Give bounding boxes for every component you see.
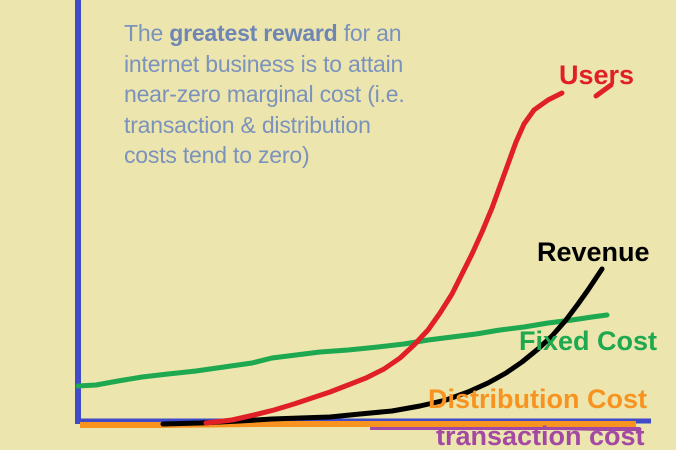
annotation-line-4: transaction & distribution xyxy=(124,112,371,138)
annotation-line-3: near-zero marginal cost (i.e. xyxy=(124,81,405,107)
series-label-transaction-cost: transaction cost xyxy=(436,421,645,450)
chart-annotation-text: The greatest reward for an internet busi… xyxy=(124,18,504,171)
annotation-line-1-bold: greatest reward xyxy=(169,20,337,46)
annotation-line-2: internet business is to attain xyxy=(124,51,403,77)
annotation-line-5: costs tend to zero) xyxy=(124,142,309,168)
chart-canvas: The greatest reward for an internet busi… xyxy=(0,0,676,450)
series-label-distribution-cost: Distribution Cost xyxy=(428,384,647,415)
annotation-line-1-pre: The xyxy=(124,20,169,46)
series-label-revenue: Revenue xyxy=(537,237,650,268)
series-label-users: Users xyxy=(559,60,634,91)
annotation-line-1-post: for an xyxy=(338,20,402,46)
series-label-fixed-cost: Fixed Cost xyxy=(519,326,657,357)
